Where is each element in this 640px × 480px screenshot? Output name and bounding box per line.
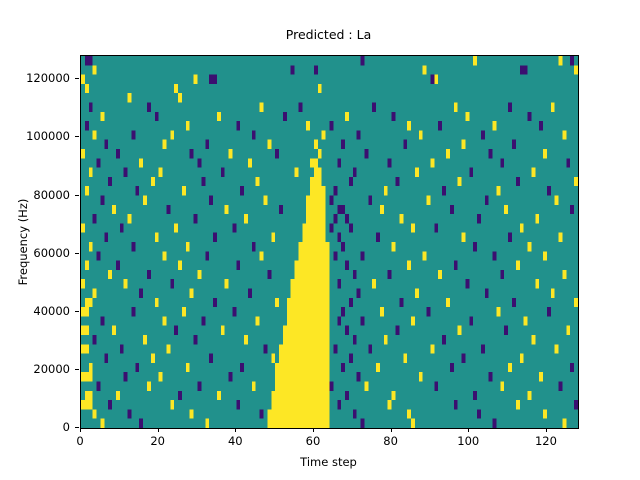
- matplotlib-figure: Predicted : La 020406080100120 020000400…: [0, 0, 640, 480]
- x-tick-label: 60: [283, 434, 343, 448]
- y-tick-mark: [75, 78, 79, 79]
- y-tick-label: 120000: [0, 71, 70, 85]
- y-tick-mark: [75, 195, 79, 196]
- x-tick-mark: [235, 428, 236, 432]
- y-tick-label: 40000: [0, 304, 70, 318]
- heatmap-axes[interactable]: [80, 55, 579, 429]
- x-tick-label: 20: [128, 434, 188, 448]
- heatmap-canvas: [81, 56, 578, 428]
- y-tick-label: 100000: [0, 129, 70, 143]
- x-tick-label: 100: [438, 434, 498, 448]
- x-tick-mark: [80, 428, 81, 432]
- y-tick-label: 60000: [0, 246, 70, 260]
- x-tick-label: 120: [516, 434, 576, 448]
- chart-title: Predicted : La: [80, 28, 577, 42]
- y-tick-label: 0: [0, 420, 70, 434]
- y-tick-mark: [75, 311, 79, 312]
- x-tick-mark: [468, 428, 469, 432]
- y-tick-mark: [75, 136, 79, 137]
- x-tick-mark: [158, 428, 159, 432]
- y-tick-mark: [75, 253, 79, 254]
- x-tick-label: 0: [50, 434, 110, 448]
- x-tick-label: 80: [361, 434, 421, 448]
- y-tick-mark: [75, 369, 79, 370]
- heatmap-image[interactable]: [81, 56, 578, 428]
- x-axis-label: Time step: [80, 455, 577, 469]
- x-tick-mark: [391, 428, 392, 432]
- x-tick-label: 40: [205, 434, 265, 448]
- y-tick-mark: [75, 427, 79, 428]
- y-axis-label: Frequency (Hz): [16, 56, 30, 428]
- y-tick-label: 80000: [0, 188, 70, 202]
- x-tick-mark: [546, 428, 547, 432]
- x-tick-mark: [313, 428, 314, 432]
- y-tick-label: 20000: [0, 362, 70, 376]
